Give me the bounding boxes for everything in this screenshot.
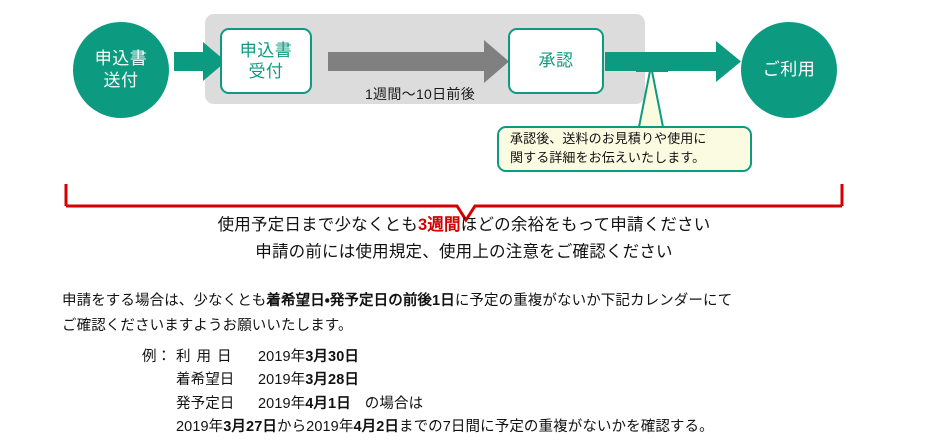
example-row: 発予定日 2019年4月1日 の場合は: [142, 393, 928, 416]
flow-node-label-line: 承認: [539, 50, 574, 71]
conclusion-date-1: 3月27日: [223, 416, 277, 439]
flow-node-application-receive: 申込書 受付: [220, 28, 312, 94]
notice-line-2: 申請の前には使用規定、使用上の注意をご確認ください: [0, 239, 928, 266]
instruction-line-2: ご確認くださいますようお願いいたします。: [62, 318, 353, 334]
example-row: 着希望日 2019年3月28日: [142, 369, 928, 392]
flow-node-label-line: 申込書: [240, 40, 293, 61]
flow-node-label-line: 送付: [104, 70, 139, 92]
flow-node-label-line: 受付: [249, 61, 284, 82]
approval-callout: 承認後、送料のお見積りや使用に 関する詳細をお伝えいたします。: [497, 126, 752, 172]
arrow-approval-to-use: [605, 41, 741, 82]
example-day: 4月1日: [305, 396, 351, 412]
instruction-after: に予定の重複がないか下記カレンダーにて: [455, 293, 732, 309]
conclusion-year-1: 2019年: [176, 416, 223, 439]
example-suffix: の場合は: [351, 393, 423, 416]
red-span-bracket: [0, 176, 928, 212]
arrow-receive-to-approval: [328, 40, 509, 83]
example-label: 発予定日: [176, 393, 258, 416]
instruction-before: 申請をする場合は、少なくとも: [62, 293, 266, 309]
example-year: 2019年: [258, 396, 305, 412]
instruction-paragraph: 申請をする場合は、少なくとも着希望日・発予定日の前後1日に予定の重複がないか下記…: [62, 289, 928, 340]
example-row: 例： 利用日 2019年3月30日: [142, 346, 928, 369]
flow-node-use: ご利用: [741, 22, 837, 118]
callout-line-2: 関する詳細をお伝えいたします。: [510, 150, 705, 165]
example-label: 着希望日: [176, 369, 258, 392]
flow-node-application-send: 申込書 送付: [73, 22, 169, 118]
duration-label: 1週間～10日前後: [330, 84, 510, 104]
center-notice: 使用予定日まで少なくとも3週間ほどの余裕をもって申請ください 申請の前には使用規…: [0, 212, 928, 265]
conclusion-year-2: 2019年: [306, 416, 353, 439]
example-block: 例： 利用日 2019年3月30日 着希望日 2019年3月28日 発予定日 2…: [62, 346, 928, 440]
example-year: 2019年: [258, 349, 305, 365]
example-conclusion-row: 2019年3月27日から2019年4月2日までの7日間に予定の重複がないかを確認…: [142, 416, 928, 439]
approval-callout-text: 承認後、送料のお見積りや使用に 関する詳細をお伝えいたします。: [510, 130, 707, 168]
example-day: 3月30日: [305, 349, 359, 365]
notice-line-1: 使用予定日まで少なくとも3週間ほどの余裕をもって申請ください: [0, 212, 928, 239]
notice-line-1-after: ほどの余裕をもって申請ください: [461, 216, 711, 234]
example-day: 3月28日: [305, 372, 359, 388]
process-flow-diagram: 申込書 送付 申込書 受付 承認 ご利用 1週間～10日前後: [0, 0, 928, 185]
example-date: 2019年3月28日: [258, 369, 359, 392]
arrow-send-to-receive: [174, 42, 226, 81]
flow-node-label-line: ご利用: [763, 59, 816, 81]
bottom-instructions: 申請をする場合は、少なくとも着希望日・発予定日の前後1日に予定の重複がないか下記…: [62, 289, 928, 440]
callout-line-1: 承認後、送料のお見積りや使用に: [510, 131, 707, 146]
notice-emphasis-weeks: 3週間: [418, 216, 461, 234]
pointer-arrow-join: [636, 52, 668, 72]
flow-node-approval: 承認: [508, 28, 604, 94]
conclusion-tail: までの7日間に予定の重複がないかを確認する。: [399, 416, 714, 439]
example-date: 2019年4月1日: [258, 393, 351, 416]
instruction-emphasis: 着希望日・発予定日の前後1日: [266, 293, 454, 309]
example-date: 2019年3月30日: [258, 346, 359, 369]
example-label: 利用日: [176, 346, 258, 369]
conclusion-mid: から: [277, 416, 306, 439]
example-prefix: 例：: [142, 346, 176, 369]
notice-line-1-before: 使用予定日まで少なくとも: [218, 216, 418, 234]
conclusion-date-2: 4月2日: [353, 416, 399, 439]
example-year: 2019年: [258, 372, 305, 388]
callout-pointer: [639, 66, 663, 127]
flow-node-label-line: 申込書: [95, 48, 148, 70]
